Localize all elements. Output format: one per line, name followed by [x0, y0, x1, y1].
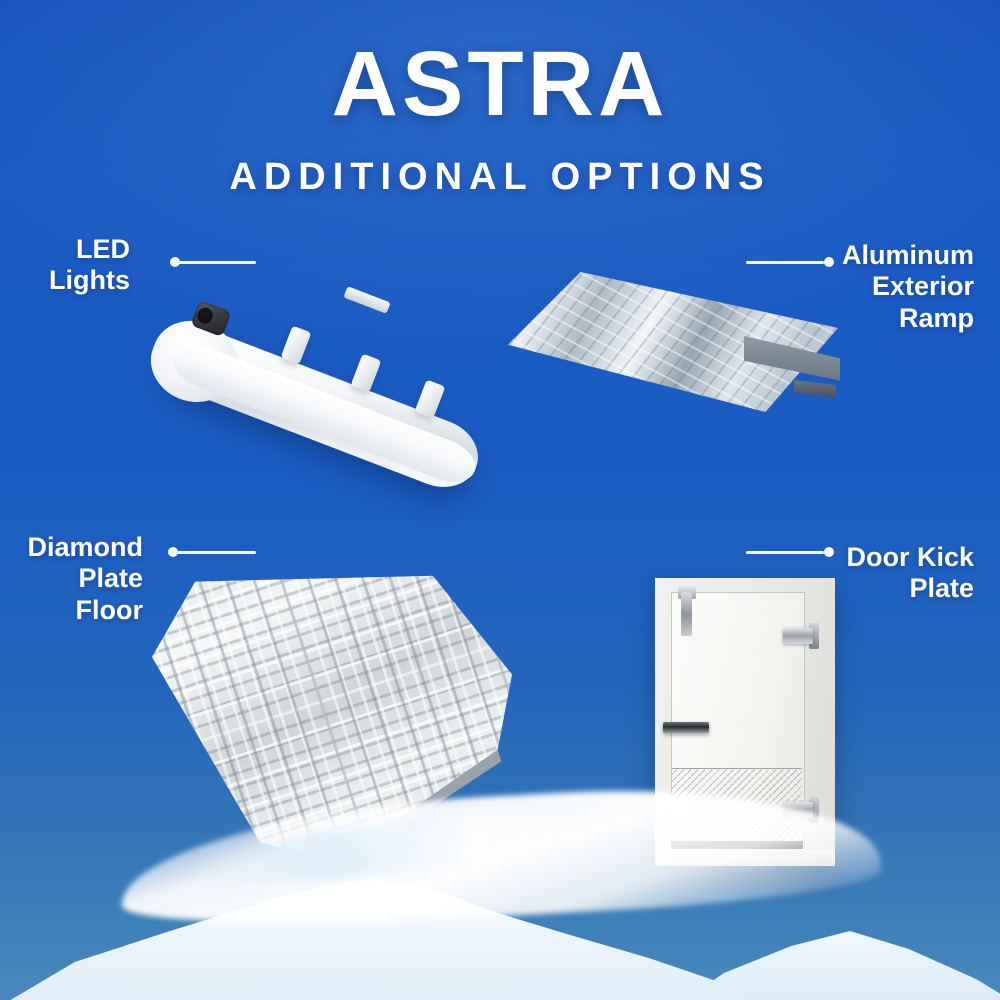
header: ASTRA ADDITIONAL OPTIONS	[0, 0, 1000, 196]
callout-label-diamond-plate-floor: Diamond Plate Floor	[8, 532, 143, 626]
connector-led-lights	[170, 257, 256, 267]
product-image-led-light-fixture	[148, 270, 528, 455]
connector-diamond-plate-floor	[168, 547, 256, 557]
led-mount-bracket	[343, 286, 390, 314]
led-clamp-1	[281, 326, 312, 365]
led-clamp-3	[415, 380, 446, 419]
ramp-tread-pattern	[508, 272, 838, 412]
connector-line	[176, 551, 256, 554]
ramp-lip	[794, 378, 836, 398]
brand-title: ASTRA	[0, 38, 1000, 130]
door-hinge-top	[783, 628, 813, 644]
poster-canvas: ASTRA ADDITIONAL OPTIONS LED Lights Alum…	[0, 0, 1000, 1000]
snow-mountain-ice-graphic	[0, 770, 1000, 1000]
door-latch-handle	[663, 722, 709, 733]
connector-line	[178, 261, 256, 264]
page-subtitle: ADDITIONAL OPTIONS	[0, 158, 1000, 196]
callout-label-led-lights: LED Lights	[10, 234, 130, 297]
door-top-latch	[681, 592, 692, 636]
led-clamp-2	[351, 354, 382, 393]
product-image-aluminum-ramp	[508, 262, 848, 432]
